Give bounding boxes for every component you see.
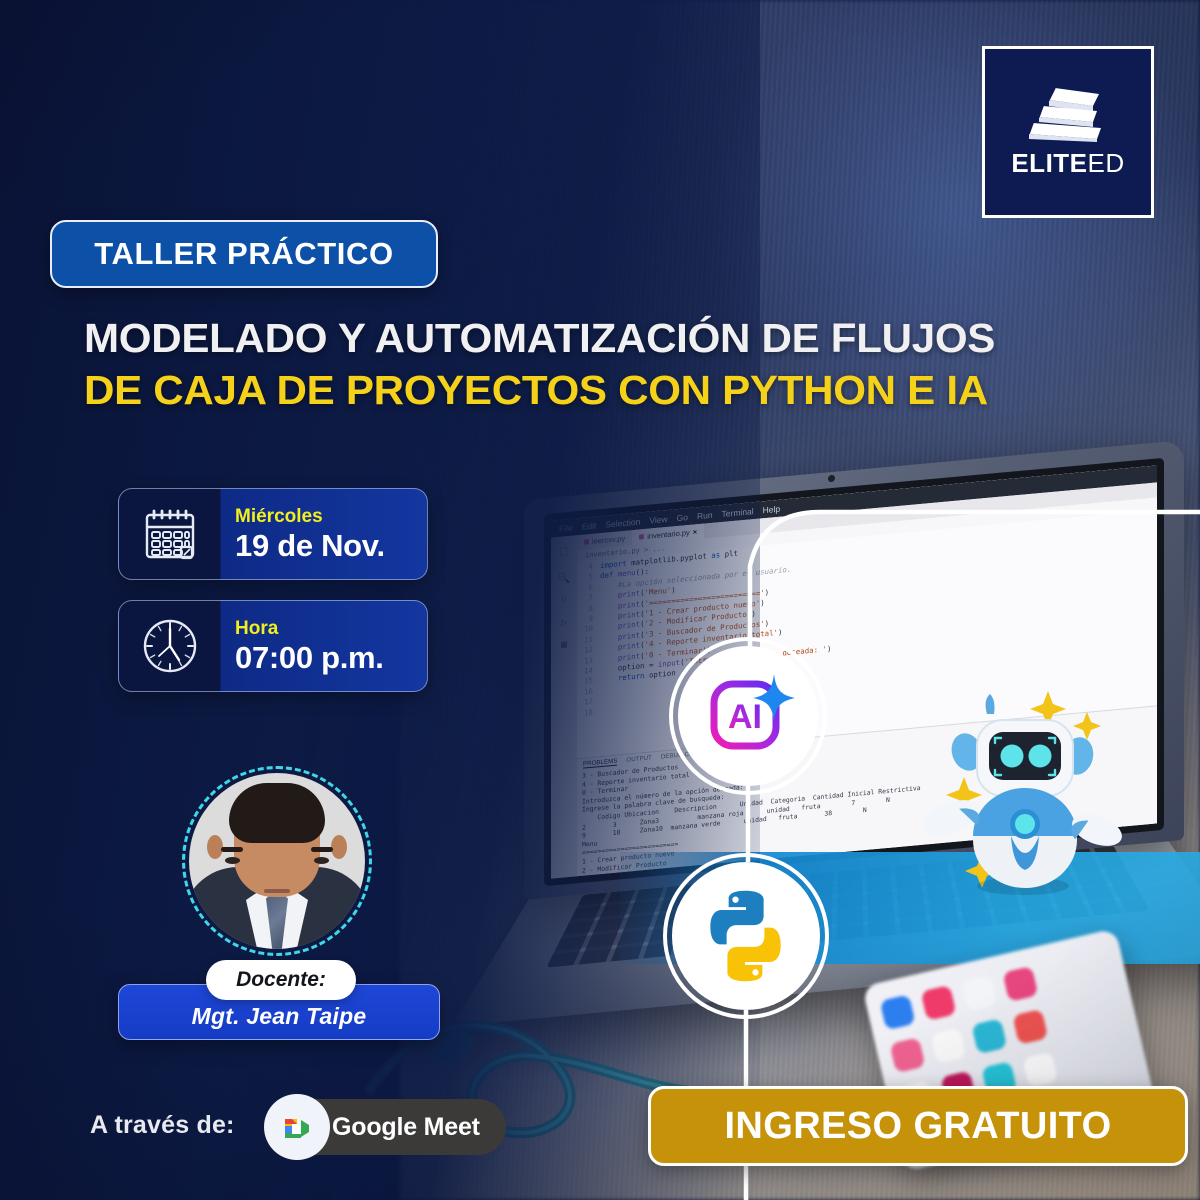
date-label: Miércoles	[235, 505, 385, 528]
ai-badge-ring	[669, 637, 827, 795]
google-meet-icon-wrap	[264, 1094, 330, 1160]
date-value: 19 de Nov.	[235, 528, 385, 564]
title-line-2: DE CAJA DE PROYECTOS CON PYTHON E IA	[84, 364, 1145, 416]
brand-name-bold: ELITE	[1011, 148, 1087, 178]
clock-icon	[119, 616, 221, 676]
brand-logo[interactable]: ELITEED	[982, 46, 1154, 218]
time-label: Hora	[235, 617, 384, 640]
robot-mascot	[915, 690, 1125, 895]
google-meet-label: Google Meet	[332, 1113, 480, 1142]
poster-canvas: File Edit Selection View Go Run Terminal…	[0, 0, 1200, 1200]
workshop-type-label: TALLER PRÁCTICO	[94, 236, 393, 272]
presenter-avatar	[182, 766, 372, 956]
stacked-books-icon	[1025, 86, 1111, 142]
time-card: Hora 07:00 p.m.	[118, 600, 428, 692]
time-value: 07:00 p.m.	[235, 640, 384, 676]
via-label: A través de:	[90, 1111, 235, 1140]
cta-button[interactable]: INGRESO GRATUITO	[648, 1086, 1188, 1166]
title-line-1: MODELADO Y AUTOMATIZACIÓN DE FLUJOS	[84, 312, 1145, 364]
presenter-role-pill: Docente:	[206, 960, 356, 1000]
page-title: MODELADO Y AUTOMATIZACIÓN DE FLUJOS DE C…	[84, 312, 1104, 416]
calendar-icon	[119, 505, 221, 563]
cta-label: INGRESO GRATUITO	[724, 1105, 1111, 1148]
workshop-type-badge[interactable]: TALLER PRÁCTICO	[50, 220, 438, 288]
presenter-role-label: Docente:	[236, 968, 326, 992]
google-meet-icon	[277, 1107, 317, 1147]
python-badge-ring	[663, 853, 829, 1019]
python-badge	[672, 862, 820, 1010]
avatar-dashed-ring	[182, 766, 372, 956]
ai-badge: AI	[678, 646, 818, 786]
date-card: Miércoles 19 de Nov.	[118, 488, 428, 580]
presenter-name: Mgt. Jean Taipe	[192, 1003, 367, 1030]
brand-wordmark: ELITEED	[1011, 148, 1124, 179]
brand-name-light: ED	[1088, 148, 1125, 178]
